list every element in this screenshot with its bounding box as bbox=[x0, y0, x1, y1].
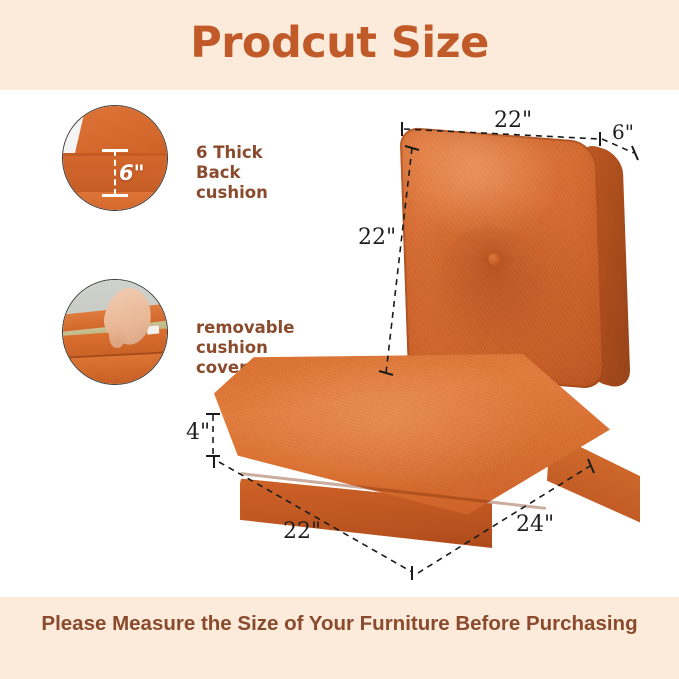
dimension-back-height: 22" bbox=[358, 225, 396, 250]
inset-measure-label: 6" bbox=[119, 161, 145, 185]
page-title: Prodcut Size bbox=[0, 18, 679, 68]
footer-message: Please Measure the Size of Your Furnitur… bbox=[30, 610, 649, 638]
back-cushion-piping bbox=[399, 126, 604, 389]
product-image bbox=[196, 96, 666, 586]
inset-photo-removable-cover bbox=[62, 279, 168, 385]
back-cushion bbox=[399, 126, 604, 389]
seat-cushion bbox=[214, 354, 654, 574]
dimension-seat-width: 24" bbox=[516, 512, 554, 537]
dimension-back-depth: 6" bbox=[612, 120, 634, 144]
dimension-seat-depth: 22" bbox=[283, 519, 321, 544]
dimension-back-width: 22" bbox=[494, 108, 532, 133]
inset-photo-back-cushion-thickness: 6" bbox=[62, 105, 168, 211]
dimension-seat-height: 4" bbox=[186, 420, 210, 445]
